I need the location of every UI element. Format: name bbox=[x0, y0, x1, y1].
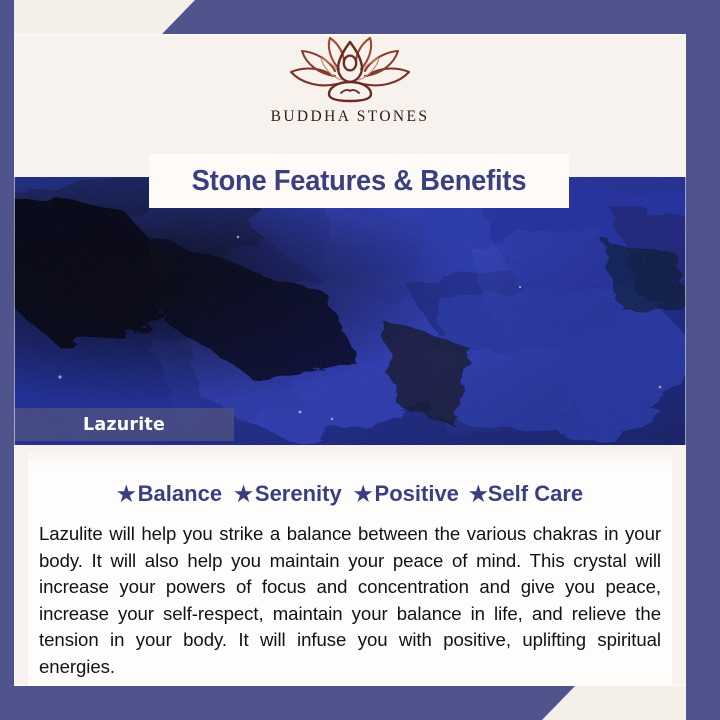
benefit-item-positive: ★Positive bbox=[354, 481, 459, 507]
benefit-label: Positive bbox=[375, 481, 459, 506]
star-icon: ★ bbox=[117, 482, 136, 507]
frame-bar-top bbox=[0, 0, 720, 34]
star-icon: ★ bbox=[354, 482, 373, 507]
stone-photo bbox=[14, 177, 686, 445]
page-title: Stone Features & Benefits bbox=[192, 165, 527, 198]
benefit-item-self-care: ★Self Care bbox=[469, 481, 583, 507]
page-title-banner: Stone Features & Benefits bbox=[149, 154, 569, 208]
benefit-item-serenity: ★Serenity bbox=[234, 481, 342, 507]
benefit-label: Self Care bbox=[488, 481, 583, 506]
description-panel: ★Balance★Serenity★Positive★Self Care Laz… bbox=[28, 445, 672, 686]
brand-name: BUDDHA STONES bbox=[271, 108, 430, 126]
description-text: Lazulite will help you strike a balance … bbox=[39, 521, 661, 681]
lotus-meditation-icon bbox=[275, 36, 425, 106]
benefit-item-balance: ★Balance bbox=[117, 481, 222, 507]
stone-name: Lazurite bbox=[14, 415, 165, 435]
benefit-label: Serenity bbox=[255, 481, 342, 506]
description-text-block: Lazulite will help you strike a balance … bbox=[39, 521, 661, 681]
brand-logo: BUDDHA STONES bbox=[14, 34, 686, 130]
infographic-page: BUDDHA STONES bbox=[0, 0, 720, 720]
frame-bar-right bbox=[686, 0, 720, 720]
star-icon: ★ bbox=[234, 482, 253, 507]
panel-fade bbox=[28, 445, 672, 467]
stone-name-label: Lazurite bbox=[14, 408, 234, 441]
frame-bar-bottom bbox=[0, 686, 720, 720]
frame-bar-left bbox=[0, 0, 14, 720]
benefits-list: ★Balance★Serenity★Positive★Self Care bbox=[28, 481, 672, 507]
lazurite-texture bbox=[14, 177, 686, 445]
star-icon: ★ bbox=[469, 482, 488, 507]
content-card: BUDDHA STONES bbox=[14, 34, 686, 686]
benefit-label: Balance bbox=[138, 481, 222, 506]
